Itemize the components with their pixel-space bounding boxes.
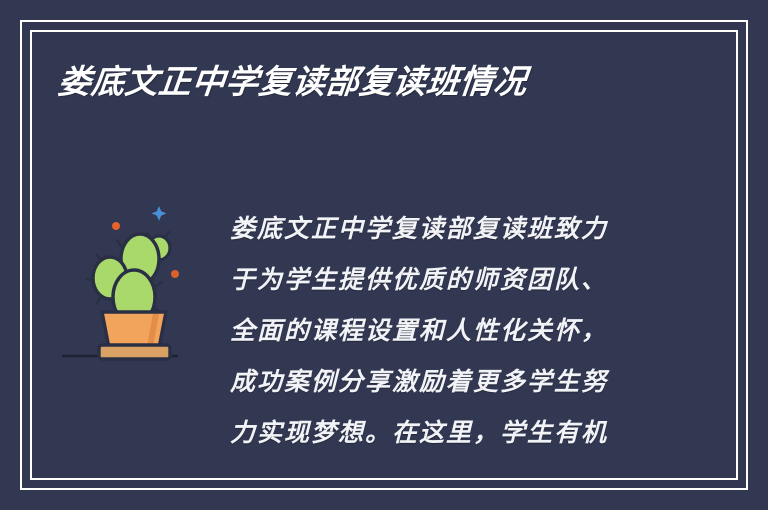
body-line: 于为学生提供优质的师资团队、 [230, 255, 650, 306]
potted-cactus-illustration [55, 190, 215, 370]
body-line: 全面的课程设置和人性化关怀， [230, 306, 650, 357]
page-title: 娄底文正中学复读部复读班情况 [56, 60, 530, 104]
body-line: 力实现梦想。在这里，学生有机 [230, 408, 650, 459]
orange-dot-right-icon [171, 270, 179, 278]
body-line: 娄底文正中学复读部复读班致力 [230, 204, 650, 255]
flower-pot-base [99, 345, 170, 359]
blue-sparkle-icon [152, 206, 167, 221]
orange-dot-icon [112, 222, 120, 230]
body-line: 成功案例分享激励着更多学生努 [230, 357, 650, 408]
body-paragraph: 娄底文正中学复读部复读班致力 于为学生提供优质的师资团队、 全面的课程设置和人性… [230, 204, 650, 469]
flower-pot [102, 312, 166, 348]
poster-canvas: 娄底文正中学复读部复读班情况 [0, 0, 768, 510]
